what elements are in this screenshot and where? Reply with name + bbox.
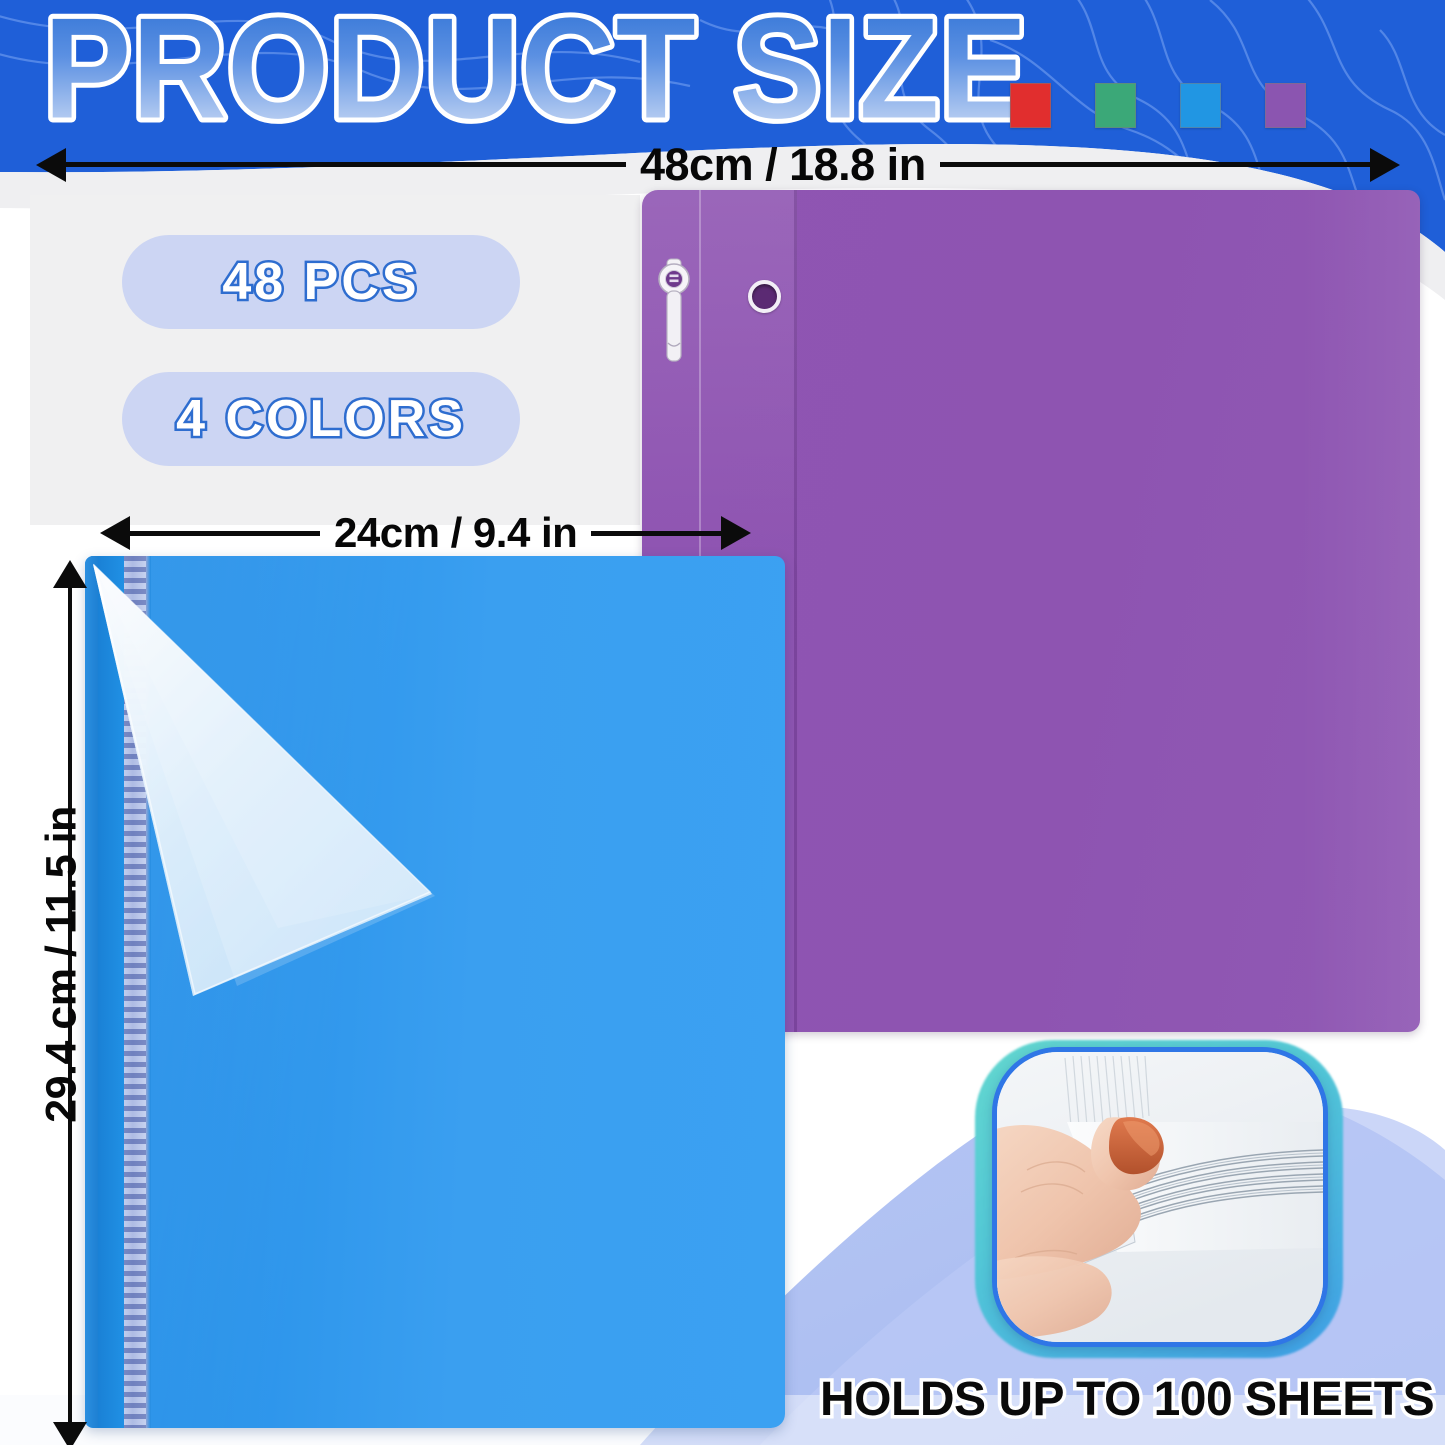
arrow-head-left-icon: [100, 516, 130, 550]
arrow-head-right-icon: [1370, 148, 1400, 182]
dimension-single-width: 24cm / 9.4 in: [100, 512, 790, 554]
dimension-line-right: [940, 162, 1370, 167]
blue-folder: [85, 556, 785, 1428]
arrow-head-right-icon: [721, 516, 751, 550]
dimension-single-height: 29.4 cm / 11.5 in: [40, 560, 100, 1445]
dimension-overall-width: 48cm / 18.8 in: [36, 142, 1408, 187]
purple-folder-right-shade: [1300, 190, 1420, 1032]
arrow-head-left-icon: [36, 148, 66, 182]
red-swatch: [1010, 83, 1051, 128]
dimension-line-right: [591, 531, 721, 536]
photo-frame: [992, 1047, 1328, 1347]
blue-swatch: [1180, 83, 1221, 128]
quantity-badge-label: 48 PCS: [222, 252, 419, 312]
prong-fastener-icon: [656, 257, 692, 367]
product-size-infographic: PRODUCT SIZE 48cm / 18.8 in: [0, 0, 1445, 1445]
green-swatch: [1095, 83, 1136, 128]
page-title: PRODUCT SIZE: [44, 0, 984, 132]
purple-swatch: [1265, 83, 1306, 128]
quantity-badge: 48 PCS: [122, 235, 520, 329]
colors-badge-label: 4 COLORS: [176, 389, 466, 449]
dimension-single-height-label: 29.4 cm / 11.5 in: [38, 705, 87, 1225]
dimension-line-left: [130, 531, 320, 536]
grommet-hole-icon: [748, 280, 781, 313]
dimension-overall-width-label: 48cm / 18.8 in: [626, 142, 940, 187]
transparent-cover-flap: [85, 556, 785, 1428]
arrow-head-down-icon: [53, 1422, 87, 1445]
purple-folder-highlight: [642, 190, 797, 550]
dimension-single-width-label: 24cm / 9.4 in: [320, 512, 591, 554]
page-title-text: PRODUCT SIZE: [44, 0, 1028, 149]
purple-folder-fold-line-2: [794, 190, 797, 1032]
color-swatch-row: [1010, 83, 1306, 128]
sheet-capacity-caption: HOLDS UP TO 100 SHEETS: [820, 1372, 1430, 1427]
sheet-capacity-photo: [975, 1040, 1343, 1358]
colors-badge: 4 COLORS: [122, 372, 520, 466]
dimension-line-left: [66, 162, 626, 167]
